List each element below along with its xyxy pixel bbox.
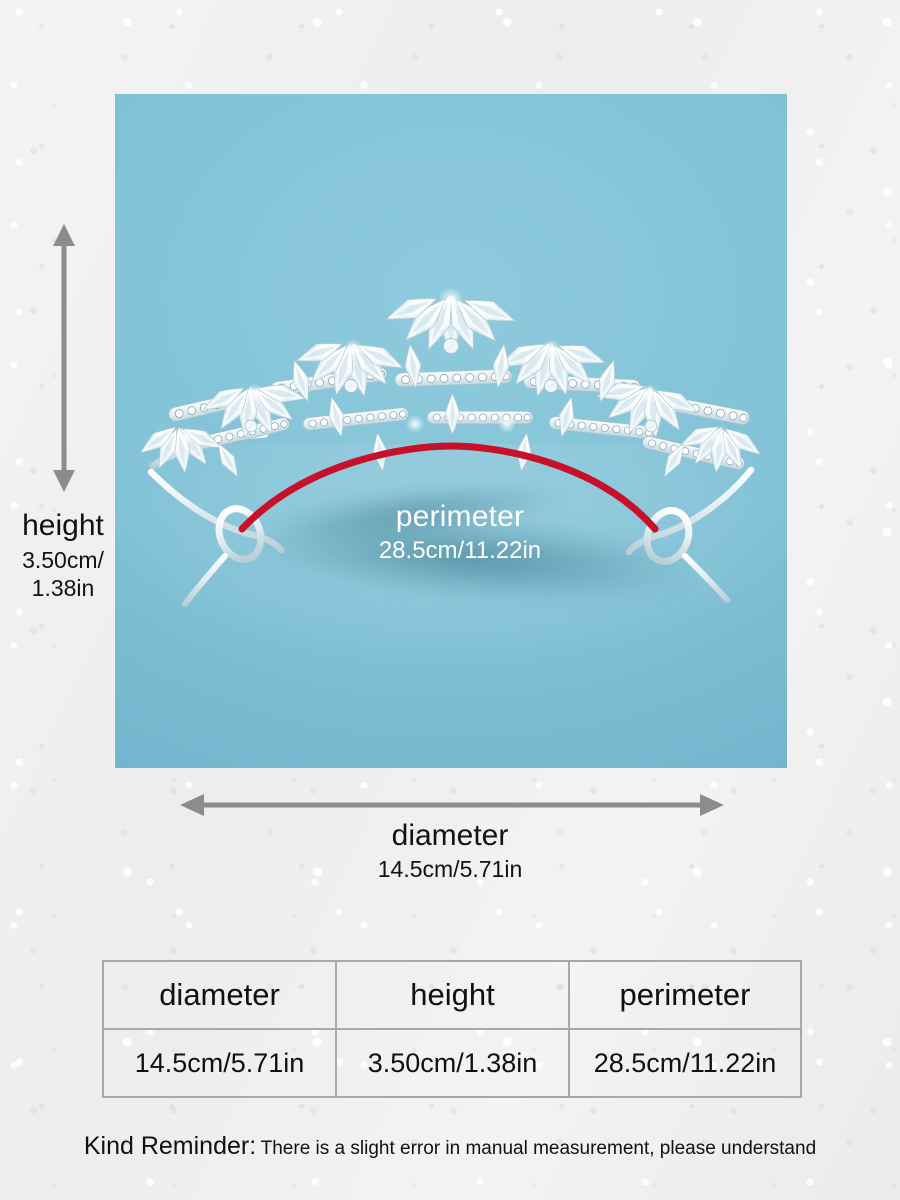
height-double-arrow-icon [44,222,84,494]
perimeter-value: 28.5cm/11.22in [290,538,630,565]
table-header-row: diameter height perimeter [103,961,801,1029]
perimeter-label: perimeter [290,500,630,534]
diameter-double-arrow-icon [178,788,726,822]
tiara-illustration [115,94,787,768]
height-caption: height 3.50cm/ 1.38in [0,508,126,602]
reminder-label: Kind Reminder: [84,1132,256,1160]
height-value-in: 1.38in [0,575,126,603]
reminder-text: There is a slight error in manual measur… [261,1138,817,1159]
table-value-height: 3.50cm/1.38in [336,1029,569,1097]
kind-reminder: Kind Reminder: There is a slight error i… [0,1132,900,1161]
table-value-diameter: 14.5cm/5.71in [103,1029,336,1097]
diameter-caption: diameter 14.5cm/5.71in [278,818,622,884]
product-photo [115,94,787,768]
measurement-table: diameter height perimeter 14.5cm/5.71in … [102,960,802,1098]
table-value-row: 14.5cm/5.71in 3.50cm/1.38in 28.5cm/11.22… [103,1029,801,1097]
table-value-perimeter: 28.5cm/11.22in [569,1029,801,1097]
diameter-value: 14.5cm/5.71in [278,856,622,883]
perimeter-caption: perimeter 28.5cm/11.22in [290,500,630,564]
table-header-diameter: diameter [103,961,336,1029]
height-value-cm: 3.50cm/ [0,547,126,575]
height-label: height [0,508,126,544]
table-header-perimeter: perimeter [569,961,801,1029]
diameter-label: diameter [278,818,622,853]
table-header-height: height [336,961,569,1029]
